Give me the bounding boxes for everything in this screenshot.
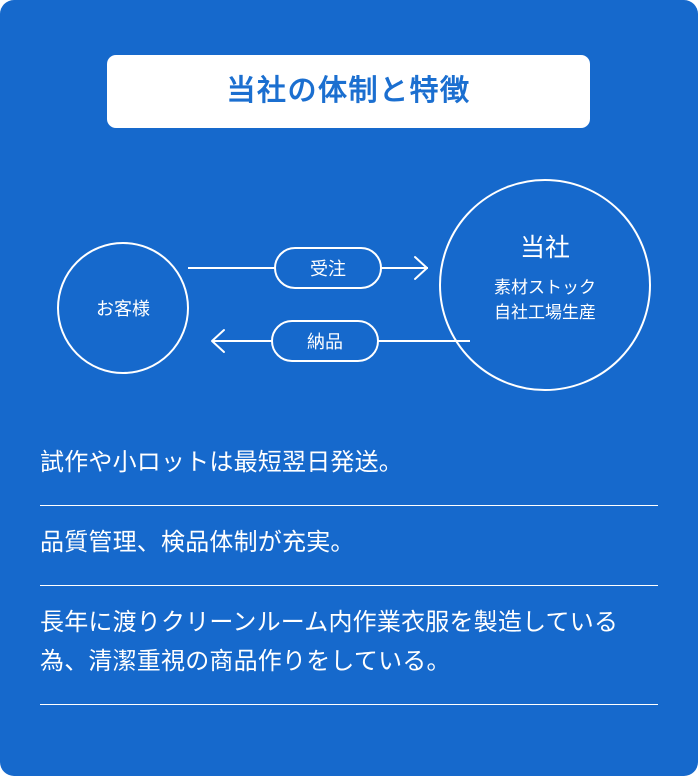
page-title: 当社の体制と特徴 xyxy=(226,77,470,106)
order-flow-label: 受注 xyxy=(310,259,346,279)
feature-text: 試作や小ロットは最短翌日発送。 xyxy=(40,444,658,483)
flow-diagram: お客様 当社 素材ストック 自社工場生産 受注 納品 xyxy=(0,160,698,410)
list-item: 品質管理、検品体制が充実。 xyxy=(40,506,658,586)
feature-text: 長年に渡りクリーンルーム内作業衣服を製造している為、清潔重視の商品作りをしている… xyxy=(40,604,658,682)
company-node-sub-2: 自社工場生産 xyxy=(494,303,596,322)
feature-text: 品質管理、検品体制が充実。 xyxy=(40,524,658,563)
customer-node-label: お客様 xyxy=(96,299,150,319)
company-system-card: 当社の体制と特徴 お客様 当社 素材ストック 自社工場生産 xyxy=(0,0,698,776)
page-title-box: 当社の体制と特徴 xyxy=(107,55,590,128)
company-node-label: 当社 xyxy=(520,234,570,262)
list-item: 試作や小ロットは最短翌日発送。 xyxy=(40,430,658,506)
feature-list: 試作や小ロットは最短翌日発送。 品質管理、検品体制が充実。 長年に渡りクリーンル… xyxy=(40,430,658,705)
company-node-sub-1: 素材ストック xyxy=(494,278,596,297)
delivery-flow-label: 納品 xyxy=(307,332,343,352)
list-item: 長年に渡りクリーンルーム内作業衣服を製造している為、清潔重視の商品作りをしている… xyxy=(40,586,658,705)
